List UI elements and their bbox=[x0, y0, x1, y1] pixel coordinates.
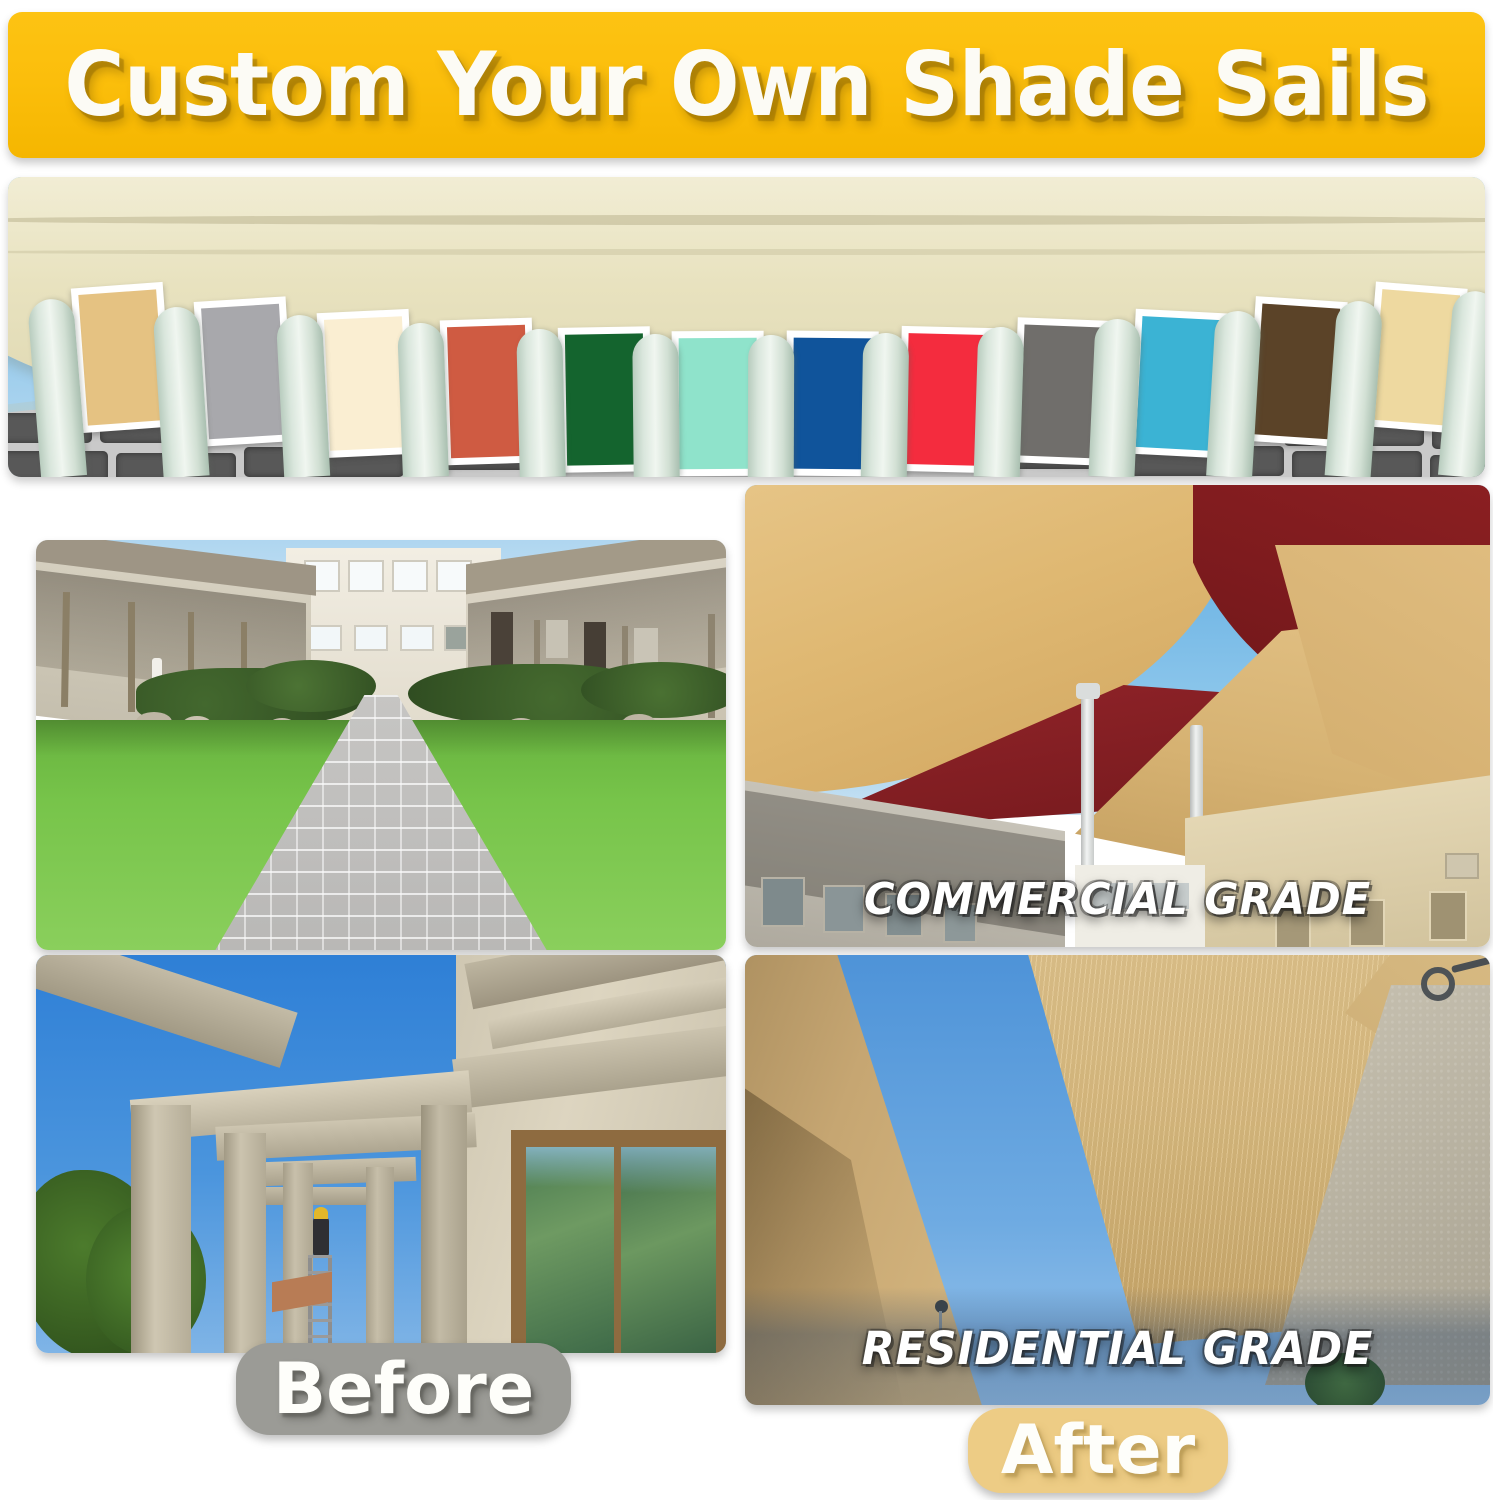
swatch-fill bbox=[679, 338, 758, 469]
commercial-grade-photo: COMMERCIAL GRADE bbox=[745, 485, 1490, 947]
pergola-column bbox=[366, 1167, 394, 1353]
courtyard-before-photo bbox=[36, 540, 726, 950]
door-reflection bbox=[621, 1147, 716, 1193]
d-ring-hardware bbox=[1421, 967, 1455, 1001]
window bbox=[354, 625, 388, 651]
swatch-fill bbox=[1136, 316, 1221, 451]
swatch-fill bbox=[201, 304, 287, 440]
pole-fitting bbox=[1076, 683, 1100, 699]
entablature-molding bbox=[8, 249, 1485, 255]
door-reflection bbox=[526, 1147, 614, 1187]
worker-helmet bbox=[314, 1207, 328, 1219]
window bbox=[392, 560, 428, 592]
door bbox=[491, 612, 513, 666]
window bbox=[308, 625, 342, 651]
column bbox=[276, 314, 330, 477]
column bbox=[748, 335, 794, 477]
commercial-grade-caption: COMMERCIAL GRADE bbox=[764, 874, 1472, 925]
shrub-bed-left bbox=[246, 660, 376, 712]
residential-grade-photo: RESIDENTIAL GRADE bbox=[745, 955, 1490, 1405]
post bbox=[128, 602, 135, 712]
swatch-fill bbox=[1254, 304, 1341, 440]
pergola-column bbox=[421, 1105, 467, 1353]
after-badge: After bbox=[968, 1408, 1228, 1493]
before-badge: Before bbox=[236, 1343, 571, 1435]
swatch-fill bbox=[792, 338, 871, 470]
column bbox=[632, 334, 679, 477]
column bbox=[1088, 318, 1141, 477]
window bbox=[400, 625, 434, 651]
column bbox=[1206, 310, 1262, 477]
column bbox=[861, 333, 910, 477]
swatch-fill bbox=[78, 289, 165, 425]
pergola-before-photo bbox=[36, 955, 726, 1353]
page-title: Custom Your Own Shade Sails bbox=[64, 41, 1429, 129]
worker bbox=[313, 1217, 329, 1257]
column bbox=[974, 326, 1025, 477]
window bbox=[546, 620, 568, 658]
header-banner: Custom Your Own Shade Sails bbox=[8, 12, 1485, 158]
swatch-fill bbox=[324, 316, 408, 451]
window bbox=[348, 560, 384, 592]
column bbox=[397, 322, 449, 477]
residential-grade-caption: RESIDENTIAL GRADE bbox=[764, 1322, 1472, 1375]
entablature-molding bbox=[8, 215, 1485, 225]
column bbox=[516, 328, 566, 477]
pergola-column bbox=[131, 1105, 191, 1353]
color-swatch-colonnade bbox=[8, 177, 1485, 477]
pergola-column bbox=[224, 1133, 266, 1353]
